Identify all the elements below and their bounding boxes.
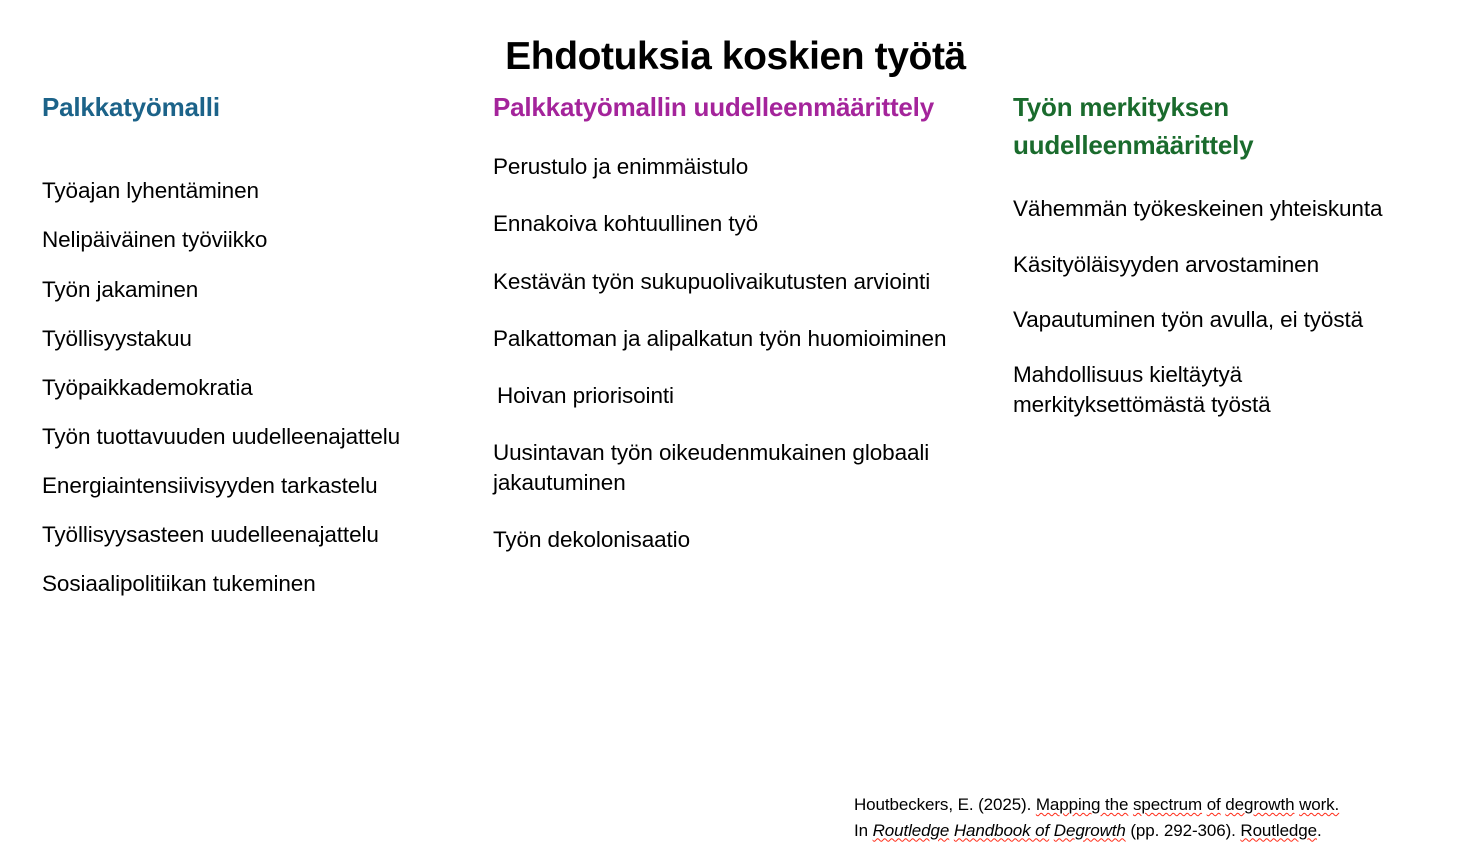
column-palkkatyomalli: Palkkatyömalli Työajan lyhentäminen Neli… bbox=[42, 88, 462, 618]
citation-book-title-3: Degrowth bbox=[1054, 821, 1126, 840]
column-3-list: Vähemmän työkeskeinen yhteiskunta Käsity… bbox=[1013, 194, 1433, 420]
citation-publisher: Routledge bbox=[1240, 821, 1317, 840]
citation-author-year: Houtbeckers, E. (2025). bbox=[854, 795, 1036, 814]
list-item: Vapautuminen työn avulla, ei työstä bbox=[1013, 305, 1433, 335]
column-2-header: Palkkatyömallin uudelleenmäärittely bbox=[493, 88, 963, 126]
list-item: Perustulo ja enimmäistulo bbox=[493, 152, 963, 182]
column-palkkatyomallin-uudelleenmaarittely: Palkkatyömallin uudelleenmäärittely Peru… bbox=[493, 88, 963, 582]
citation-period: . bbox=[1317, 821, 1322, 840]
list-item: Vähemmän työkeskeinen yhteiskunta bbox=[1013, 194, 1433, 224]
column-1-list: Työajan lyhentäminen Nelipäiväinen työvi… bbox=[42, 176, 462, 599]
citation-pages: (pp. 292-306). bbox=[1126, 821, 1241, 840]
list-item: Työllisyystakuu bbox=[42, 324, 462, 354]
citation-block: Houtbeckers, E. (2025). Mapping the spec… bbox=[854, 792, 1454, 843]
list-item: Kestävän työn sukupuolivaikutusten arvio… bbox=[493, 267, 963, 297]
citation-book-title-1: Routledge bbox=[873, 821, 950, 840]
list-item: Työn tuottavuuden uudelleenajattelu bbox=[42, 422, 462, 452]
list-item: Mahdollisuus kieltäytyä merkityksettömäs… bbox=[1013, 360, 1433, 420]
citation-book-title-2: Handbook of bbox=[954, 821, 1049, 840]
citation-article-title-5: work. bbox=[1299, 795, 1339, 814]
citation-article-title-2: spectrum bbox=[1133, 795, 1202, 814]
list-item: Energiaintensiivisyyden tarkastelu bbox=[42, 471, 462, 501]
list-item: Työn jakaminen bbox=[42, 275, 462, 305]
three-column-layout: Palkkatyömalli Työajan lyhentäminen Neli… bbox=[0, 88, 1471, 788]
page-title: Ehdotuksia koskien työtä bbox=[0, 34, 1471, 81]
citation-in-prefix: In bbox=[854, 821, 873, 840]
column-2-list: Perustulo ja enimmäistulo Ennakoiva koht… bbox=[493, 152, 963, 555]
list-item: Sosiaalipolitiikan tukeminen bbox=[42, 569, 462, 599]
column-3-header: Työn merkityksen uudelleenmäärittely bbox=[1013, 88, 1433, 164]
list-item: Työn dekolonisaatio bbox=[493, 525, 963, 555]
list-item: Nelipäiväinen työviikko bbox=[42, 225, 462, 255]
citation-article-title-3: of bbox=[1207, 795, 1221, 814]
list-item: Työllisyysasteen uudelleenajattelu bbox=[42, 520, 462, 550]
column-1-header: Palkkatyömalli bbox=[42, 88, 462, 126]
list-item: Käsityöläisyyden arvostaminen bbox=[1013, 250, 1433, 280]
list-item: Hoivan priorisointi bbox=[493, 381, 963, 411]
list-item: Uusintavan työn oikeudenmukainen globaal… bbox=[493, 438, 963, 498]
list-item: Työpaikkademokratia bbox=[42, 373, 462, 403]
citation-line-1: Houtbeckers, E. (2025). Mapping the spec… bbox=[854, 792, 1454, 818]
citation-line-2: In Routledge Handbook of Degrowth (pp. 2… bbox=[854, 818, 1454, 844]
list-item: Ennakoiva kohtuullinen työ bbox=[493, 209, 963, 239]
list-item: Palkattoman ja alipalkatun työn huomioim… bbox=[493, 324, 963, 354]
column-tyon-merkityksen-uudelleenmaarittely: Työn merkityksen uudelleenmäärittely Väh… bbox=[1013, 88, 1433, 445]
list-item: Työajan lyhentäminen bbox=[42, 176, 462, 206]
citation-article-title-1: Mapping the bbox=[1036, 795, 1128, 814]
slide-canvas: Ehdotuksia koskien työtä Palkkatyömalli … bbox=[0, 0, 1471, 863]
citation-article-title-4: degrowth bbox=[1225, 795, 1294, 814]
